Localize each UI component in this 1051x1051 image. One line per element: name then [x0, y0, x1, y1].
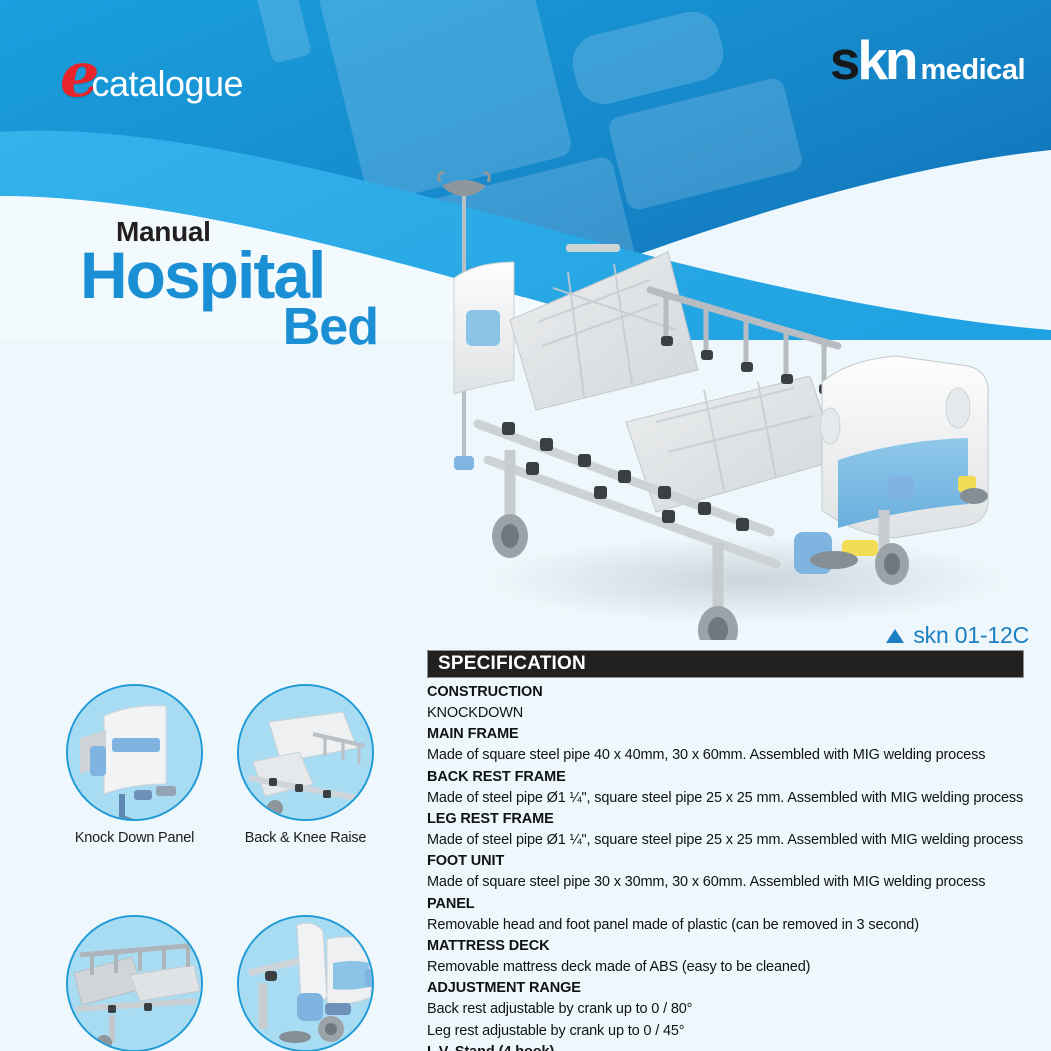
- spec-section-heading: CONSTRUCTION: [427, 682, 1024, 703]
- skn-medical-logo: s kn medical: [830, 36, 1025, 86]
- feature-thumbnail[interactable]: Siderail: [66, 915, 203, 1051]
- catalogue-page: e catalogue s kn medical Manual Hospital…: [0, 0, 1051, 1051]
- model-code-label: skn 01-12C: [886, 622, 1029, 649]
- feature-thumbnail[interactable]: Back & Knee Raise: [237, 684, 374, 846]
- spec-section-heading: I. V. Stand (4 hook): [427, 1042, 1024, 1051]
- spec-section-heading: BACK REST FRAME: [427, 767, 1024, 788]
- ecatalogue-label: catalogue: [91, 66, 243, 102]
- brand-kn-glyph: kn: [857, 36, 915, 86]
- spec-section-heading: MATTRESS DECK: [427, 936, 1024, 957]
- knock-down-panel-photo: [66, 684, 203, 821]
- feature-caption: Back & Knee Raise: [237, 830, 374, 846]
- feature-caption: Knock Down Panel: [66, 830, 203, 846]
- specification-header-bar: SPECIFICATION: [427, 650, 1024, 678]
- brand-medical-label: medical: [921, 56, 1026, 85]
- spec-section-text: Made of square steel pipe 30 x 30mm, 30 …: [427, 872, 1024, 893]
- foot-panel: [794, 356, 988, 574]
- brand-s-glyph: s: [830, 36, 858, 86]
- product-title: Manual Hospital Bed: [80, 218, 400, 353]
- specification-list: CONSTRUCTIONKNOCKDOWNMAIN FRAMEMade of s…: [427, 678, 1024, 1051]
- spec-section-text: Back rest adjustable by crank up to 0 / …: [427, 999, 1024, 1020]
- spec-section-text: Leg rest adjustable by crank up to 0 / 4…: [427, 1021, 1024, 1042]
- feature-thumbnail-grid: Knock Down Panel Back & Knee Raise Sider…: [0, 684, 420, 1051]
- product-photo: [418, 160, 1051, 640]
- spec-section-text: Made of square steel pipe 40 x 40mm, 30 …: [427, 745, 1024, 766]
- spec-section-text: KNOCKDOWN: [427, 703, 1024, 724]
- spec-section-text: Made of steel pipe Ø1 ¼", square steel p…: [427, 830, 1024, 851]
- spec-section-heading: LEG REST FRAME: [427, 809, 1024, 830]
- model-code-text: skn 01-12C: [913, 622, 1029, 649]
- triangle-marker-icon: [886, 629, 904, 643]
- specification-title: SPECIFICATION: [438, 653, 586, 675]
- spec-section-heading: ADJUSTMENT RANGE: [427, 978, 1024, 999]
- head-panel: [454, 262, 514, 394]
- bumper-available-photo: [237, 915, 374, 1051]
- spec-section-heading: MAIN FRAME: [427, 724, 1024, 745]
- feature-thumbnail-row: Knock Down Panel Back & Knee Raise: [0, 684, 420, 846]
- ecatalogue-logo: e catalogue: [60, 44, 243, 106]
- spec-section-text: Made of steel pipe Ø1 ¼", square steel p…: [427, 788, 1024, 809]
- spec-section-text: Removable head and foot panel made of pl…: [427, 915, 1024, 936]
- feature-thumbnail[interactable]: Bumper available: [237, 915, 374, 1051]
- feature-thumbnail[interactable]: Knock Down Panel: [66, 684, 203, 846]
- spec-section-text: Removable mattress deck made of ABS (eas…: [427, 957, 1024, 978]
- siderail-photo: [66, 915, 203, 1051]
- specification-panel: SPECIFICATION CONSTRUCTIONKNOCKDOWNMAIN …: [427, 650, 1024, 1051]
- hospital-bed-illustration: [418, 160, 1051, 640]
- back-rest-deck: [510, 244, 698, 410]
- spec-section-heading: PANEL: [427, 894, 1024, 915]
- spec-section-heading: FOOT UNIT: [427, 851, 1024, 872]
- back-knee-raise-photo: [237, 684, 374, 821]
- feature-thumbnail-row: Siderail Bumper available: [0, 915, 420, 1051]
